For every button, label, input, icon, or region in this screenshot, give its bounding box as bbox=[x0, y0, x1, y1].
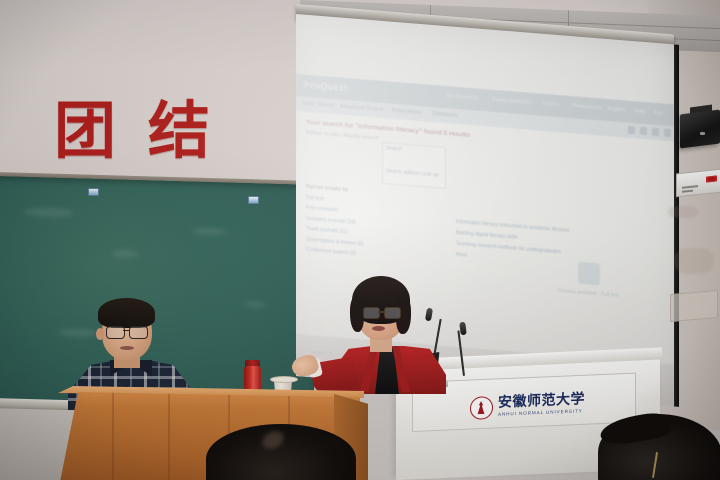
slogan-char-2: 结 bbox=[148, 96, 210, 166]
proj-topnav-1[interactable]: Saved searches bbox=[492, 97, 531, 106]
proj-facet-4[interactable]: Dissertations & theses (6) bbox=[306, 236, 378, 248]
lecture-hall-photo: 团 结 ProQuest My Research Saved searches … bbox=[0, 0, 720, 480]
wall-scuff bbox=[674, 248, 714, 274]
presenter-hair-left bbox=[350, 296, 364, 332]
proj-thumbnail-caption: Preview available · Full text bbox=[558, 288, 619, 299]
account-icon[interactable] bbox=[652, 128, 659, 137]
wall-notice-plate bbox=[670, 290, 718, 322]
university-branding: 安徽师范大学 ANHUI NORMAL UNIVERSITY bbox=[470, 386, 610, 424]
wall-speaker bbox=[680, 110, 720, 149]
presenter-glasses-lens-right bbox=[384, 307, 401, 319]
presenter-person bbox=[330, 276, 446, 392]
control-panel-led-display bbox=[706, 175, 717, 182]
wall-control-panel[interactable] bbox=[676, 169, 720, 198]
seated-man-hair bbox=[98, 298, 155, 328]
proj-topnav-4[interactable]: English bbox=[608, 106, 626, 113]
proj-facet-header: Narrow results by bbox=[306, 184, 378, 196]
cart-icon[interactable] bbox=[664, 129, 671, 138]
proj-facet-2[interactable]: Scholarly journals (24) bbox=[306, 215, 378, 227]
proj-facet-sidebar: Narrow results by Full text Peer reviewe… bbox=[306, 184, 378, 263]
help-icon[interactable] bbox=[628, 126, 635, 135]
proj-facet-1[interactable]: Peer reviewed bbox=[306, 205, 378, 217]
proj-nav-databases[interactable]: Databases bbox=[432, 111, 458, 119]
university-seal-icon bbox=[470, 396, 493, 420]
presenter-glasses-bridge bbox=[378, 311, 384, 313]
wall-scuff bbox=[668, 206, 698, 218]
wall-slogan: 团 结 bbox=[54, 96, 224, 174]
proj-facet-0[interactable]: Full text bbox=[306, 194, 378, 206]
save-icon[interactable] bbox=[640, 127, 647, 136]
proj-document-thumbnail-icon[interactable] bbox=[578, 262, 600, 286]
presenter-glasses-lens-left bbox=[363, 307, 380, 319]
proj-brand-logo: ProQuest bbox=[304, 80, 348, 94]
slogan-char-1: 团 bbox=[54, 96, 116, 166]
proj-results-subtext: Refine results / Modify search bbox=[306, 130, 378, 142]
seated-man-glasses-bridge bbox=[123, 330, 129, 331]
seated-man-mouth bbox=[120, 346, 134, 350]
proj-search-field-label: Search bbox=[386, 145, 402, 152]
proj-facet-3[interactable]: Trade journals (11) bbox=[306, 226, 378, 238]
seated-man-ear bbox=[96, 328, 104, 340]
proj-nav-advanced-search[interactable]: Advanced Search bbox=[340, 104, 383, 113]
speaker-led-icon bbox=[700, 132, 705, 135]
proj-nav-publications[interactable]: Publications bbox=[392, 108, 422, 116]
proj-topnav-2[interactable]: 0 items bbox=[542, 101, 560, 108]
proj-topnav-0[interactable]: My Research bbox=[446, 93, 478, 102]
proj-nav-basic-search[interactable]: Basic Search bbox=[302, 100, 334, 109]
board-clip-icon bbox=[88, 188, 99, 196]
proj-footer-0[interactable]: Contact Us bbox=[310, 349, 332, 356]
seated-man-glasses-lens-left bbox=[106, 326, 125, 339]
proj-facet-5[interactable]: Conference papers (3) bbox=[306, 247, 378, 259]
seated-man-glasses-lens-right bbox=[129, 326, 148, 339]
presenter-mouth bbox=[372, 326, 385, 331]
board-clip-icon bbox=[248, 196, 259, 204]
paper-cup-rim bbox=[270, 376, 298, 383]
proj-topnav-3[interactable]: Preferences bbox=[572, 103, 602, 111]
proj-topnav-5[interactable]: Help bbox=[634, 108, 645, 115]
proj-topnav-6[interactable]: Exit bbox=[654, 110, 663, 117]
